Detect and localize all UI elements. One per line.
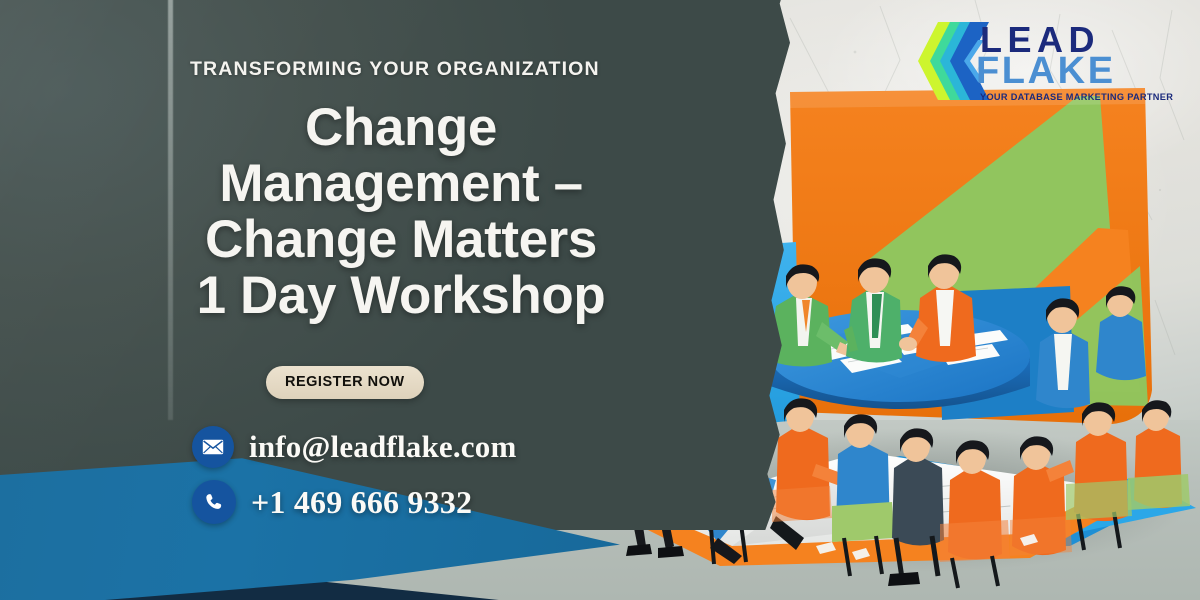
logo-tagline: YOUR DATABASE MARKETING PARTNER [980,92,1173,102]
register-now-button[interactable]: REGISTER NOW [266,366,424,399]
contact-phone-text: +1 469 666 9332 [251,484,472,521]
headline-line-3: Change Matters [156,212,646,268]
envelope-icon [192,426,234,468]
headline-line-1: Change [156,100,646,156]
headline-line-2: Management – [156,156,646,212]
leadflake-logo[interactable]: LEAD FLAKE YOUR DATABASE MARKETING PARTN… [908,16,1140,108]
event-banner: TRANSFORMING YOUR ORGANIZATION Change Ma… [0,0,1200,600]
contact-email[interactable]: info@leadflake.com [192,426,517,468]
contact-email-text: info@leadflake.com [249,429,517,465]
contact-phone[interactable]: +1 469 666 9332 [192,480,472,524]
logo-word-flake: FLAKE [976,52,1116,90]
eyebrow-text: TRANSFORMING YOUR ORGANIZATION [190,58,600,81]
page-title: Change Management – Change Matters 1 Day… [156,100,646,324]
figure-seated-right-edge [1128,400,1190,510]
phone-icon [192,480,236,524]
headline-line-4: 1 Day Workshop [156,268,646,324]
